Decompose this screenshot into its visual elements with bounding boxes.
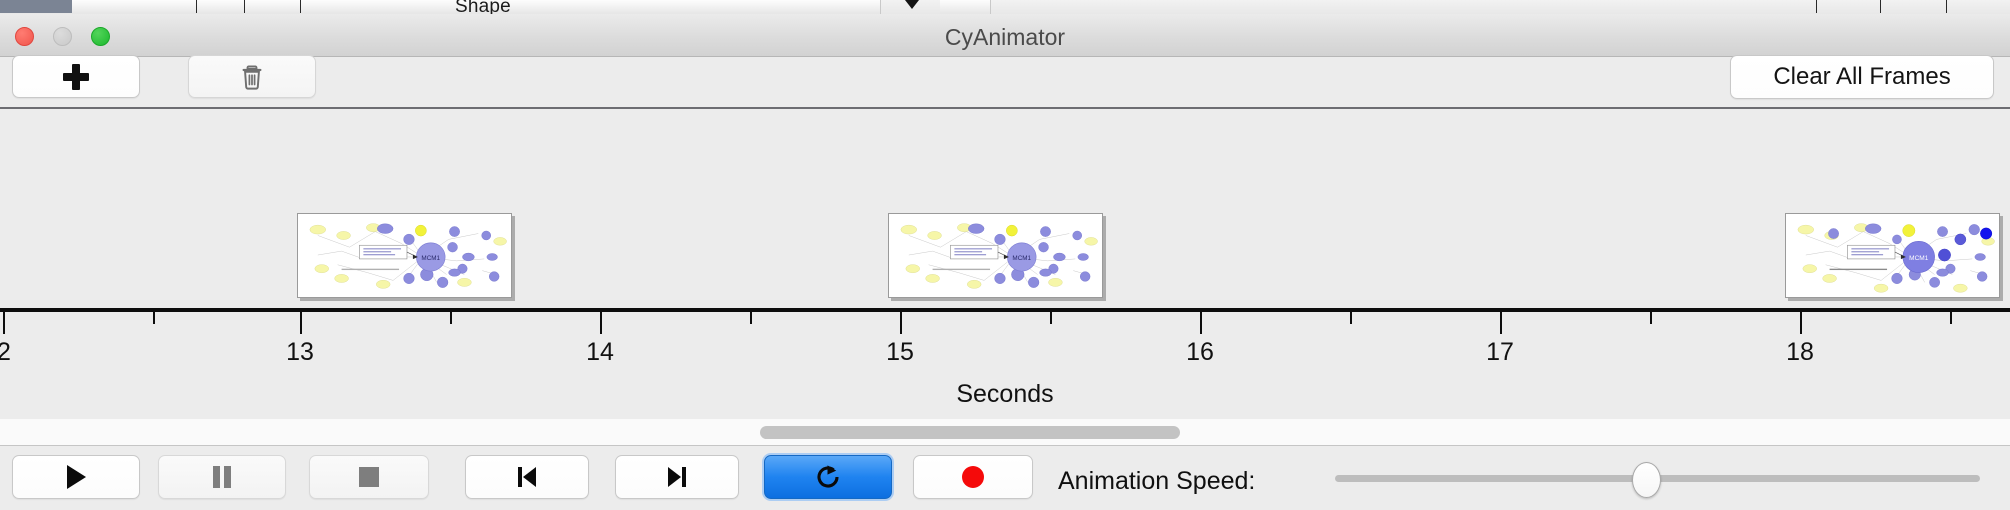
ruler-label: 15 (886, 338, 914, 367)
background-chip (240, 0, 303, 14)
ruler-tick-major (300, 312, 302, 334)
add-frame-button[interactable] (12, 55, 140, 98)
background-chip (72, 0, 153, 14)
delete-frame-button[interactable] (188, 55, 316, 98)
background-dark-chip (0, 0, 72, 13)
clear-all-frames-label: Clear All Frames (1773, 63, 1950, 91)
skip-back-icon (514, 464, 540, 490)
background-shape-label: Shape (455, 0, 511, 15)
skip-forward-icon (664, 464, 690, 490)
background-tick (196, 0, 197, 13)
ruler-tick-major (1800, 312, 1802, 334)
ruler-tick-major (900, 312, 902, 334)
ruler-tick-minor (1350, 312, 1352, 324)
pause-button[interactable] (158, 455, 286, 499)
background-app-strip: Shape (0, 0, 2010, 15)
background-chip (152, 0, 193, 14)
background-tick (1880, 0, 1881, 13)
ruler-label: 13 (286, 338, 314, 367)
background-chip (360, 0, 881, 14)
ruler-tick-major (1500, 312, 1502, 334)
ruler-label: 2 (0, 338, 11, 367)
ruler-tick-minor (1950, 312, 1952, 324)
window-title: CyAnimator (0, 24, 2010, 51)
ruler-tick-major (1200, 312, 1202, 334)
ruler-label: 17 (1486, 338, 1514, 367)
skip-forward-button[interactable] (615, 455, 739, 499)
background-chip (302, 0, 361, 14)
stop-icon (357, 465, 381, 489)
hub-node-label: MCM1 (1012, 255, 1031, 262)
network-graph-thumbnail: MCM1 (298, 214, 511, 297)
ruler-tick-minor (1050, 312, 1052, 324)
background-chip (192, 0, 241, 14)
animation-speed-label: Animation Speed: (1058, 467, 1255, 496)
play-button[interactable] (12, 455, 140, 499)
frame-thumbnail-1[interactable]: MCM1 (297, 213, 512, 298)
record-button[interactable] (913, 455, 1033, 499)
background-chip (940, 0, 991, 14)
cyanimator-window: Shape CyAnimator Clear All Frames (0, 0, 2010, 510)
frame-thumbnail-2[interactable]: MCM1 (888, 213, 1103, 298)
ruler-label: 18 (1786, 338, 1814, 367)
title-bar: CyAnimator (0, 14, 2010, 57)
play-icon (63, 463, 89, 491)
trash-icon (239, 63, 265, 91)
axis-title: Seconds (0, 380, 2010, 409)
background-tick (1946, 0, 1947, 13)
loop-button[interactable] (764, 455, 892, 499)
ruler-label: 14 (586, 338, 614, 367)
pause-icon (210, 464, 234, 490)
ruler-tick-major (3, 312, 5, 334)
ruler-tick-minor (1650, 312, 1652, 324)
record-icon (960, 464, 986, 490)
skip-back-button[interactable] (465, 455, 589, 499)
background-tick (1816, 0, 1817, 13)
ruler-label: 16 (1186, 338, 1214, 367)
timeline-ruler[interactable]: 2 13 14 15 16 17 18 (0, 308, 2010, 370)
ruler-tick-minor (450, 312, 452, 324)
horizontal-scrollbar[interactable] (0, 418, 2010, 446)
ruler-tick-major (600, 312, 602, 334)
frame-thumbnail-3[interactable]: MCM1 (1785, 213, 2000, 298)
background-tick (244, 0, 245, 13)
ruler-tick-minor (750, 312, 752, 324)
background-tick (300, 0, 301, 13)
background-wedge (905, 0, 919, 9)
network-graph-thumbnail: MCM1 (889, 214, 1102, 297)
loop-icon (813, 462, 843, 492)
frames-panel: MCM1 (0, 111, 2010, 310)
playback-controls: Animation Speed: (0, 447, 2010, 510)
plus-icon (63, 64, 89, 90)
hub-node-label: MCM1 (1909, 255, 1929, 262)
clear-all-frames-button[interactable]: Clear All Frames (1730, 55, 1994, 99)
network-graph-thumbnail: MCM1 (1786, 214, 1999, 297)
ruler-tick-minor (153, 312, 155, 324)
animation-speed-slider-knob[interactable] (1632, 462, 1661, 498)
scrollbar-thumb[interactable] (760, 426, 1180, 439)
stop-button[interactable] (309, 455, 429, 499)
hub-node-label: MCM1 (421, 255, 440, 262)
